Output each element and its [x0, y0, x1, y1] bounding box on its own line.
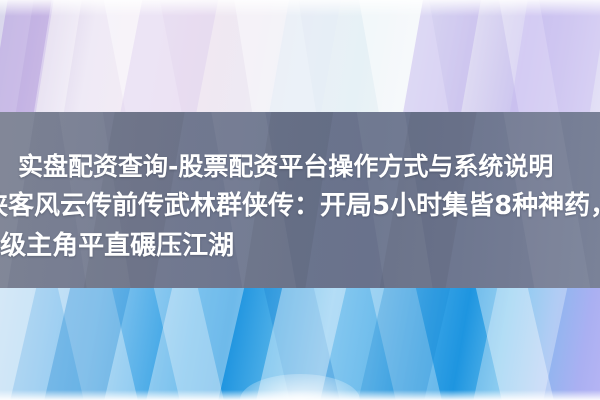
facet-shard	[133, 288, 258, 400]
facet-shard	[391, 0, 488, 112]
facet-shard	[356, 288, 455, 400]
facet-shard	[461, 288, 580, 400]
facet-shard	[250, 288, 353, 400]
banner-text-layer: 实盘配资查询-股票配资平台操作方式与系统说明 侠客风云传前传武林群侠传：开局5小…	[0, 112, 600, 288]
facet-shard	[492, 0, 571, 112]
facet-shard	[44, 288, 151, 400]
facet-shard	[0, 288, 50, 400]
hero-banner: 实盘配资查询-股票配资平台操作方式与系统说明 侠客风云传前传武林群侠传：开局5小…	[0, 0, 600, 400]
banner-headline: 实盘配资查询-股票配资平台操作方式与系统说明	[18, 148, 600, 186]
facet-shard	[352, 0, 461, 112]
banner-subheadline: 侠客风云传前传武林群侠传：开局5小时集皆8种神药，7级主角平直碾压江湖	[0, 186, 600, 266]
facet-shard	[499, 0, 600, 112]
facet-shard	[0, 0, 40, 112]
bottom-facet-band	[0, 288, 600, 400]
facet-shard	[462, 288, 567, 400]
facet-shard	[107, 0, 226, 112]
bottom-glow	[240, 374, 360, 400]
facet-shard	[96, 0, 195, 112]
facet-shard	[23, 0, 88, 112]
facet-shard	[345, 288, 464, 400]
facet-shard	[228, 0, 327, 112]
facet-shard	[31, 288, 144, 400]
facet-shard	[243, 288, 360, 400]
facet-shard	[257, 0, 348, 112]
facet-shard	[0, 0, 60, 112]
facet-shard	[140, 288, 237, 400]
top-facet-band	[0, 0, 600, 112]
